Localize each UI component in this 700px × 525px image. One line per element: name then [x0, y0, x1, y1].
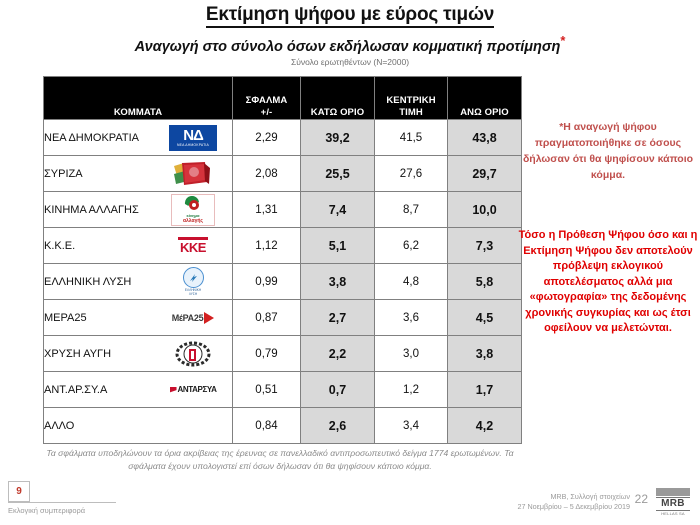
- lower-bound-value: 2,2: [301, 336, 375, 372]
- party-cell: ΕΛΛΗΝΙΚΗ ΛΥΣΗ ΕΛΛΗΝΙΚΗΛΥΣΗ: [44, 264, 233, 300]
- subtitle-asterisk: *: [560, 33, 565, 48]
- elliniki-lysi-logo: ΕΛΛΗΝΙΚΗΛΥΣΗ: [166, 267, 220, 297]
- sample-size-note: Σύνολο ερωτηθέντων (N=2000): [0, 57, 700, 67]
- source-line-1: MRB, Συλλογή στοιχείων: [430, 492, 630, 502]
- error-value: 0,87: [233, 300, 301, 336]
- central-value: 3,4: [375, 408, 448, 444]
- upper-bound-value: 3,8: [448, 336, 522, 372]
- upper-bound-value: 4,2: [448, 408, 522, 444]
- annotation-methodology-note: *Η αναγωγή ψήφου πραγματοποιήθηκε σε όσο…: [520, 119, 696, 183]
- error-value: 0,79: [233, 336, 301, 372]
- lower-bound-value: 7,4: [301, 192, 375, 228]
- error-value: 0,84: [233, 408, 301, 444]
- table-body: ΝΕΑ ΔΗΜΟΚΡΑΤΙΑ ΝΔ ΝΕΑ ΔΗΜΟΚΡΑΤΙΑ 2,29 39…: [44, 120, 522, 444]
- lower-bound-value: 39,2: [301, 120, 375, 156]
- table-row: ΕΛΛΗΝΙΚΗ ΛΥΣΗ ΕΛΛΗΝΙΚΗΛΥΣΗ 0,99: [44, 264, 522, 300]
- margin-of-error-footnote: Τα σφάλματα υποδηλώνουν τα όρια ακρίβεια…: [40, 447, 520, 473]
- error-value: 0,51: [233, 372, 301, 408]
- column-header-central-value: ΚΕΝΤΡΙΚΗ ΤΙΜΗ: [375, 77, 448, 120]
- upper-bound-value: 10,0: [448, 192, 522, 228]
- error-value: 2,08: [233, 156, 301, 192]
- slide-number: 22: [635, 492, 648, 506]
- column-header-upper-bound: ΑΝΩ ΟΡΙΟ: [448, 77, 522, 120]
- party-cell: ΧΡΥΣΗ ΑΥΓΗ: [44, 336, 233, 372]
- chrysi-avgi-logo: [166, 339, 220, 369]
- table-row: ΑΛΛΟ 0,84 2,6 3,4 4,2: [44, 408, 522, 444]
- central-value: 27,6: [375, 156, 448, 192]
- error-value: 2,29: [233, 120, 301, 156]
- central-value: 1,2: [375, 372, 448, 408]
- lower-bound-value: 2,6: [301, 408, 375, 444]
- column-header-error: ΣΦΑΛΜΑ +/-: [233, 77, 301, 120]
- table-header: ΚΟΜΜΑΤΑ ΣΦΑΛΜΑ +/- ΚΑΤΩ ΟΡΙΟ ΚΕΝΤΡΙΚΗ ΤΙ…: [44, 77, 522, 120]
- party-cell: ΚΙΝΗΜΑ ΑΛΛΑΓΗΣ κίνημα αλλαγής: [44, 192, 233, 228]
- party-cell: ΑΝΤ.ΑΡ.ΣΥ.Α ΑΝΤΑΡΣΥΑ: [44, 372, 233, 408]
- page-subtitle-text: Αναγωγή στο σύνολο όσων εκδήλωσαν κομματ…: [135, 39, 561, 55]
- party-cell: ΑΛΛΟ: [44, 408, 233, 444]
- poll-table: ΚΟΜΜΑΤΑ ΣΦΑΛΜΑ +/- ΚΑΤΩ ΟΡΙΟ ΚΕΝΤΡΙΚΗ ΤΙ…: [43, 76, 522, 444]
- column-header-party: ΚΟΜΜΑΤΑ: [44, 77, 233, 120]
- table-row: ΜΕΡΑ25 ΜέΡΑ25 0,87 2,7 3,6 4,5: [44, 300, 522, 336]
- mrb-logo: MRB HELLAS SA: [654, 488, 692, 516]
- lower-bound-value: 0,7: [301, 372, 375, 408]
- mrb-logo-subtext: HELLAS SA: [661, 511, 685, 516]
- upper-bound-value: 7,3: [448, 228, 522, 264]
- annotation-interpretation-note: Τόσο η Πρόθεση Ψήφου όσο και η Εκτίμηση …: [518, 228, 698, 337]
- column-header-lower-bound: ΚΑΤΩ ΟΡΙΟ: [301, 77, 375, 120]
- table-row: ΑΝΤ.ΑΡ.ΣΥ.Α ΑΝΤΑΡΣΥΑ 0,51 0,7 1,2 1,7: [44, 372, 522, 408]
- table-row: ΚΙΝΗΜΑ ΑΛΛΑΓΗΣ κίνημα αλλαγής: [44, 192, 522, 228]
- central-value: 4,8: [375, 264, 448, 300]
- page-number-badge: 9: [8, 481, 30, 502]
- table-row: ΧΡΥΣΗ ΑΥΓΗ 0,79 2,2 3,0 3,8: [44, 336, 522, 372]
- page-subtitle: Αναγωγή στο σύνολο όσων εκδήλωσαν κομματ…: [0, 33, 700, 55]
- lower-bound-value: 5,1: [301, 228, 375, 264]
- central-value: 6,2: [375, 228, 448, 264]
- upper-bound-value: 1,7: [448, 372, 522, 408]
- section-label: Εκλογική συμπεριφορά: [8, 506, 85, 515]
- page-title: Εκτίμηση ψήφου με εύρος τιμών: [0, 4, 700, 26]
- upper-bound-value: 4,5: [448, 300, 522, 336]
- source-credit: MRB, Συλλογή στοιχείων 27 Νοεμβρίου – 5 …: [430, 492, 630, 512]
- lower-bound-value: 3,8: [301, 264, 375, 300]
- error-value: 1,12: [233, 228, 301, 264]
- party-cell: Κ.Κ.Ε. ΚΚΕ: [44, 228, 233, 264]
- error-value: 1,31: [233, 192, 301, 228]
- central-value: 41,5: [375, 120, 448, 156]
- central-value: 8,7: [375, 192, 448, 228]
- upper-bound-value: 29,7: [448, 156, 522, 192]
- party-cell: ΣΥΡΙΖΑ: [44, 156, 233, 192]
- central-value: 3,6: [375, 300, 448, 336]
- source-line-2: 27 Νοεμβρίου – 5 Δεκεμβρίου 2019: [430, 502, 630, 512]
- lower-bound-value: 2,7: [301, 300, 375, 336]
- lower-bound-value: 25,5: [301, 156, 375, 192]
- poll-table-container: ΚΟΜΜΑΤΑ ΣΦΑΛΜΑ +/- ΚΑΤΩ ΟΡΙΟ ΚΕΝΤΡΙΚΗ ΤΙ…: [43, 76, 516, 444]
- nd-logo: ΝΔ ΝΕΑ ΔΗΜΟΚΡΑΤΙΑ: [166, 123, 220, 153]
- central-value: 3,0: [375, 336, 448, 372]
- upper-bound-value: 5,8: [448, 264, 522, 300]
- mrb-logo-text: MRB: [661, 498, 685, 509]
- error-value: 0,99: [233, 264, 301, 300]
- syriza-logo: [166, 159, 220, 189]
- kinal-logo: κίνημα αλλαγής: [166, 195, 220, 225]
- antarsya-logo: ΑΝΤΑΡΣΥΑ: [166, 375, 220, 405]
- table-header-row: ΚΟΜΜΑΤΑ ΣΦΑΛΜΑ +/- ΚΑΤΩ ΟΡΙΟ ΚΕΝΤΡΙΚΗ ΤΙ…: [44, 77, 522, 120]
- upper-bound-value: 43,8: [448, 120, 522, 156]
- party-cell: ΝΕΑ ΔΗΜΟΚΡΑΤΙΑ ΝΔ ΝΕΑ ΔΗΜΟΚΡΑΤΙΑ: [44, 120, 233, 156]
- party-cell: ΜΕΡΑ25 ΜέΡΑ25: [44, 300, 233, 336]
- table-row: ΝΕΑ ΔΗΜΟΚΡΑΤΙΑ ΝΔ ΝΕΑ ΔΗΜΟΚΡΑΤΙΑ 2,29 39…: [44, 120, 522, 156]
- mera25-logo: ΜέΡΑ25: [166, 303, 220, 333]
- footer-divider: [8, 502, 116, 503]
- table-row: Κ.Κ.Ε. ΚΚΕ 1,12 5,1 6,2 7,3: [44, 228, 522, 264]
- kke-logo: ΚΚΕ: [166, 231, 220, 261]
- table-row: ΣΥΡΙΖΑ 2,08 25,5 27,6: [44, 156, 522, 192]
- page-title-text: Εκτίμηση ψήφου με εύρος τιμών: [206, 4, 494, 28]
